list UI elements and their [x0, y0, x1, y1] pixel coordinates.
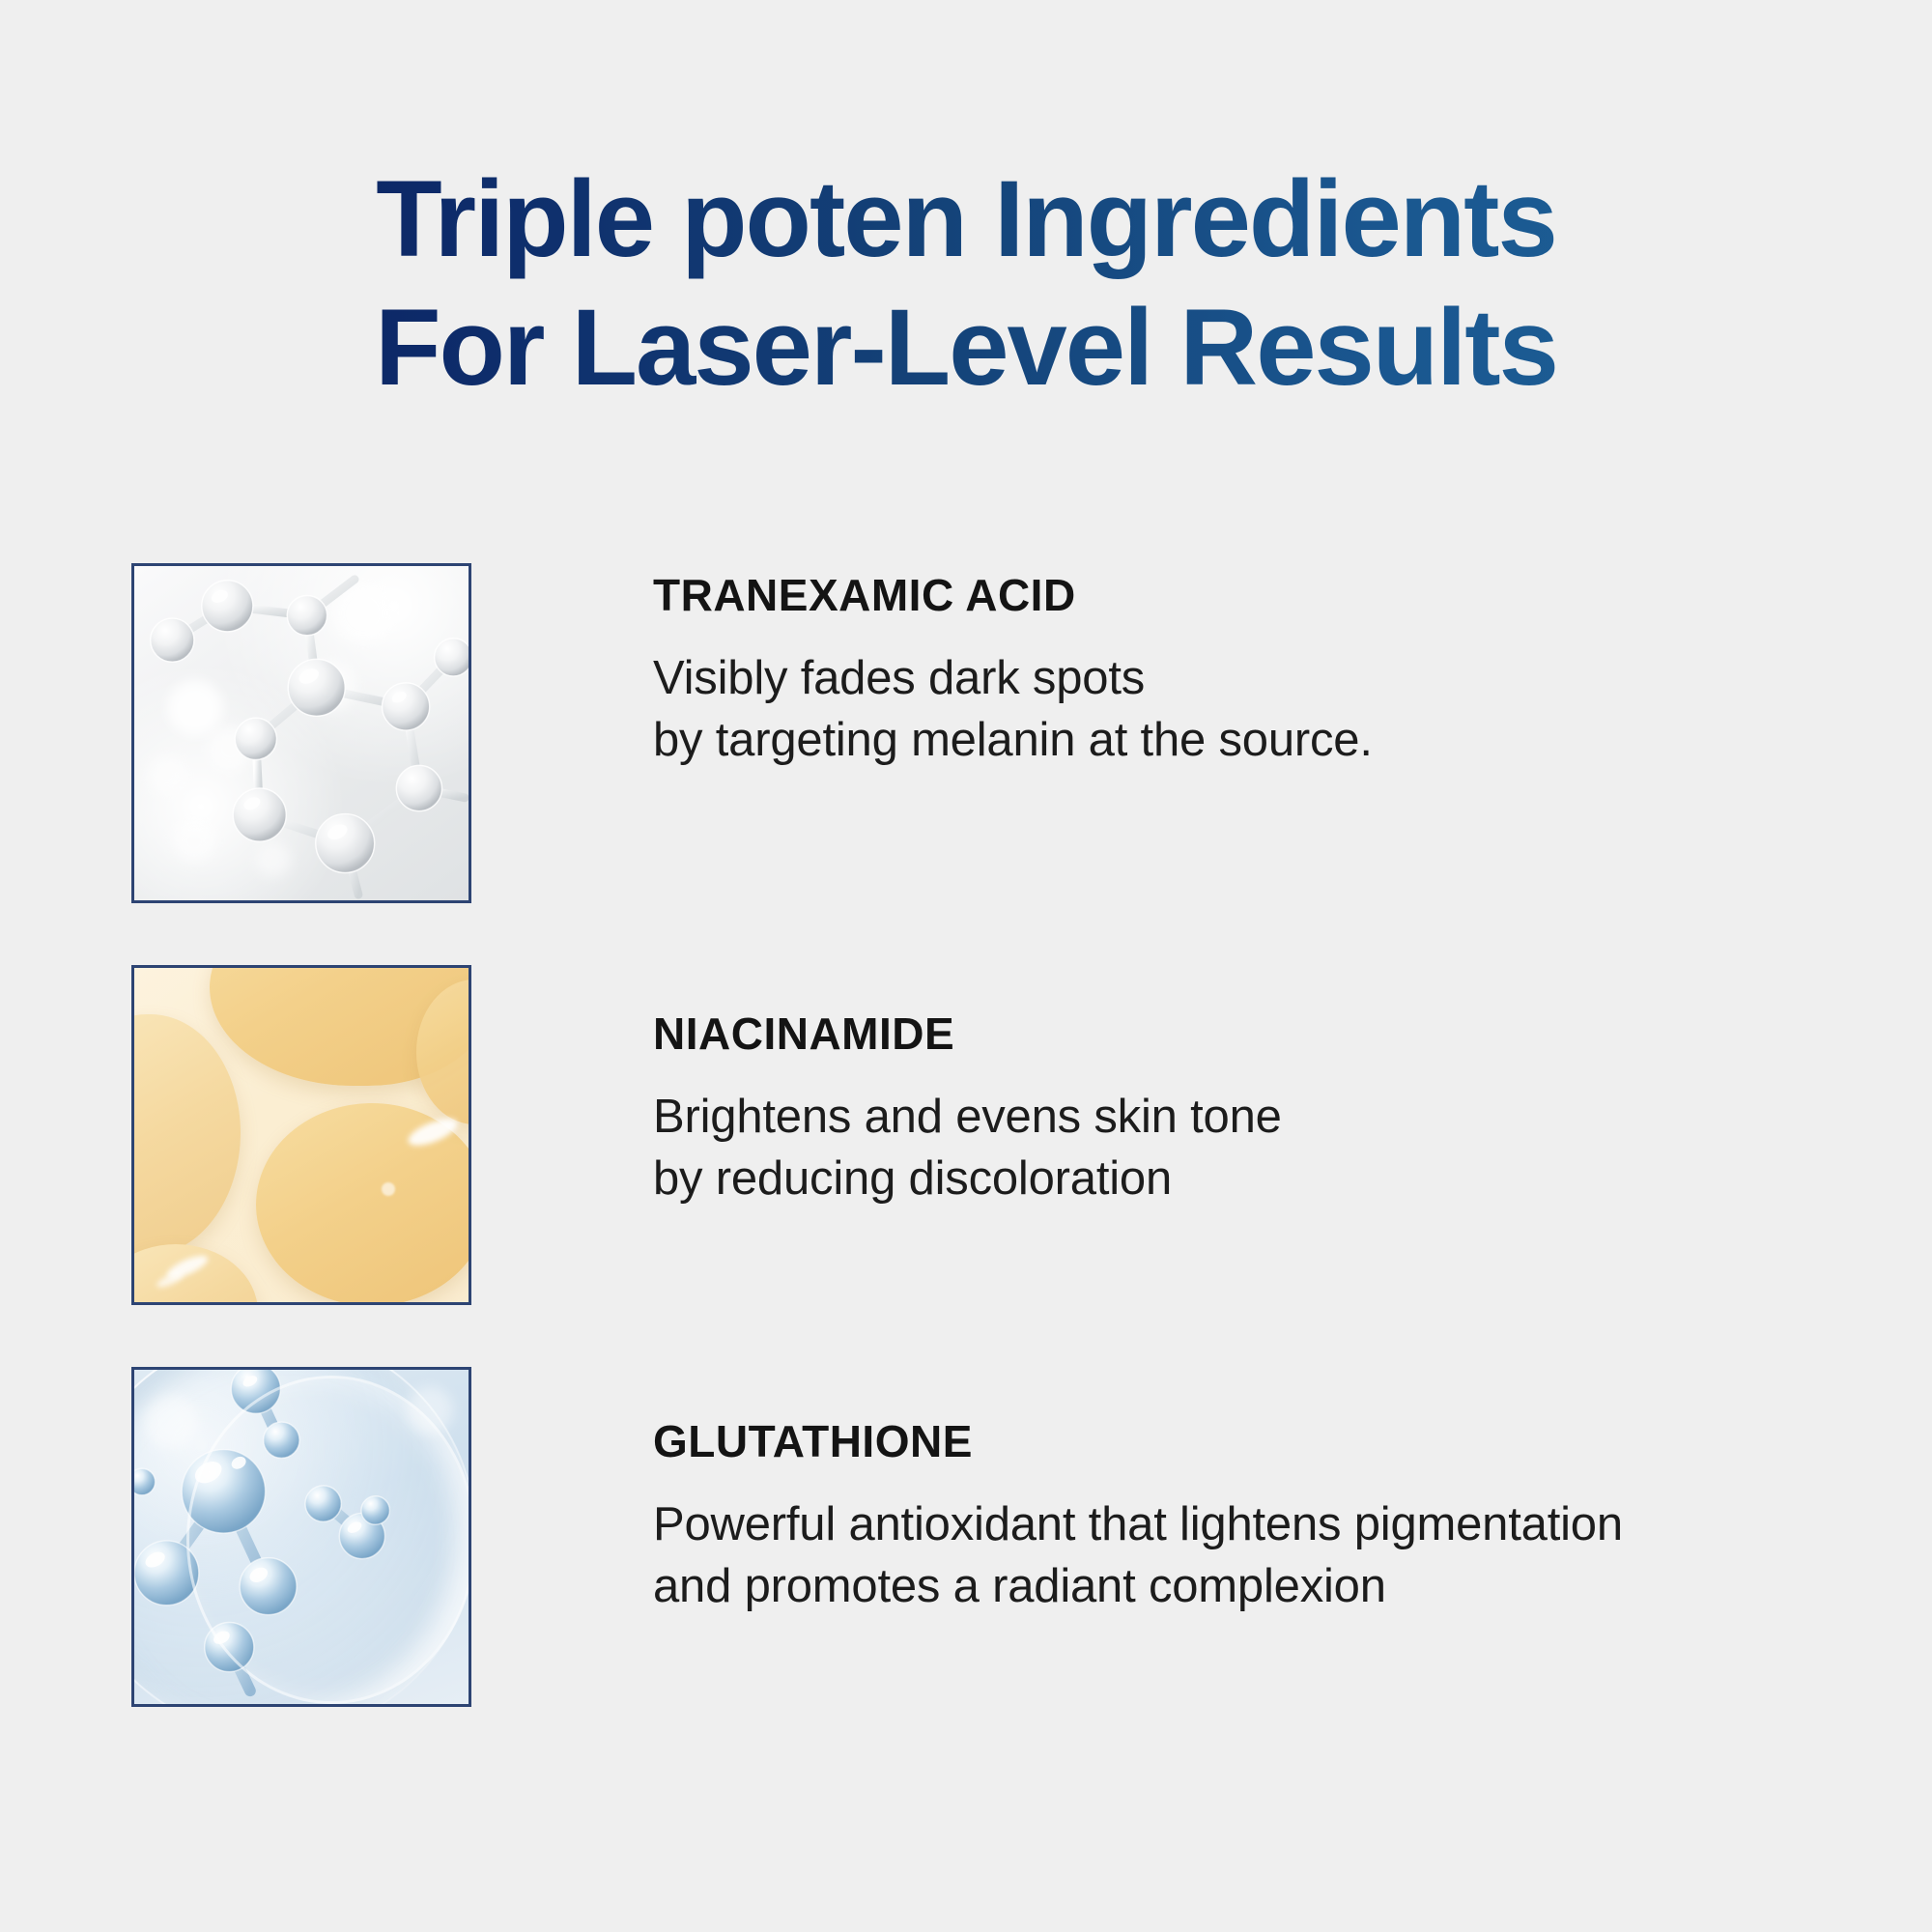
ingredient-row: GLUTATHIONE Powerful antioxidant that li…: [131, 1367, 1832, 1707]
ingredient-infographic-page: Triple poten Ingredients For Laser-Level…: [0, 0, 1932, 1932]
blue-molecule-bubble-photo: [134, 1370, 469, 1704]
ingredient-description-line-1: Powerful antioxidant that lightens pigme…: [653, 1493, 1832, 1556]
ingredient-description: Powerful antioxidant that lightens pigme…: [653, 1493, 1832, 1618]
ingredient-description-line-1: Brightens and evens skin tone: [653, 1086, 1832, 1149]
ingredient-text-block: GLUTATHIONE Powerful antioxidant that li…: [653, 1367, 1832, 1618]
golden-serum-droplets-photo: [134, 968, 469, 1302]
ingredient-description: Visibly fades dark spots by targeting me…: [653, 647, 1832, 772]
ingredient-list: TRANEXAMIC ACID Visibly fades dark spots…: [0, 0, 1932, 1932]
ingredient-text-block: NIACINAMIDE Brightens and evens skin ton…: [653, 965, 1832, 1210]
ingredient-description-line-1: Visibly fades dark spots: [653, 647, 1832, 710]
ingredient-description: Brightens and evens skin tone by reducin…: [653, 1086, 1832, 1210]
ingredient-name: GLUTATHIONE: [653, 1417, 1832, 1466]
ingredient-thumbnail-glutathione: [131, 1367, 471, 1707]
ingredient-row: TRANEXAMIC ACID Visibly fades dark spots…: [131, 563, 1832, 903]
ingredient-thumbnail-niacinamide: [131, 965, 471, 1305]
ingredient-description-line-2: and promotes a radiant complexion: [653, 1555, 1832, 1618]
ingredient-description-line-2: by reducing discoloration: [653, 1148, 1832, 1210]
molecule-lattice-icon: [134, 566, 469, 900]
ingredient-description-line-2: by targeting melanin at the source.: [653, 709, 1832, 772]
ingredient-name: NIACINAMIDE: [653, 1009, 1832, 1059]
ingredient-text-block: TRANEXAMIC ACID Visibly fades dark spots…: [653, 563, 1832, 772]
ingredient-row: NIACINAMIDE Brightens and evens skin ton…: [131, 965, 1832, 1305]
ingredient-thumbnail-tranexamic-acid: [131, 563, 471, 903]
water-molecule-icon: [134, 1370, 469, 1704]
ingredient-name: TRANEXAMIC ACID: [653, 571, 1832, 620]
molecule-structure-photo: [134, 566, 469, 900]
